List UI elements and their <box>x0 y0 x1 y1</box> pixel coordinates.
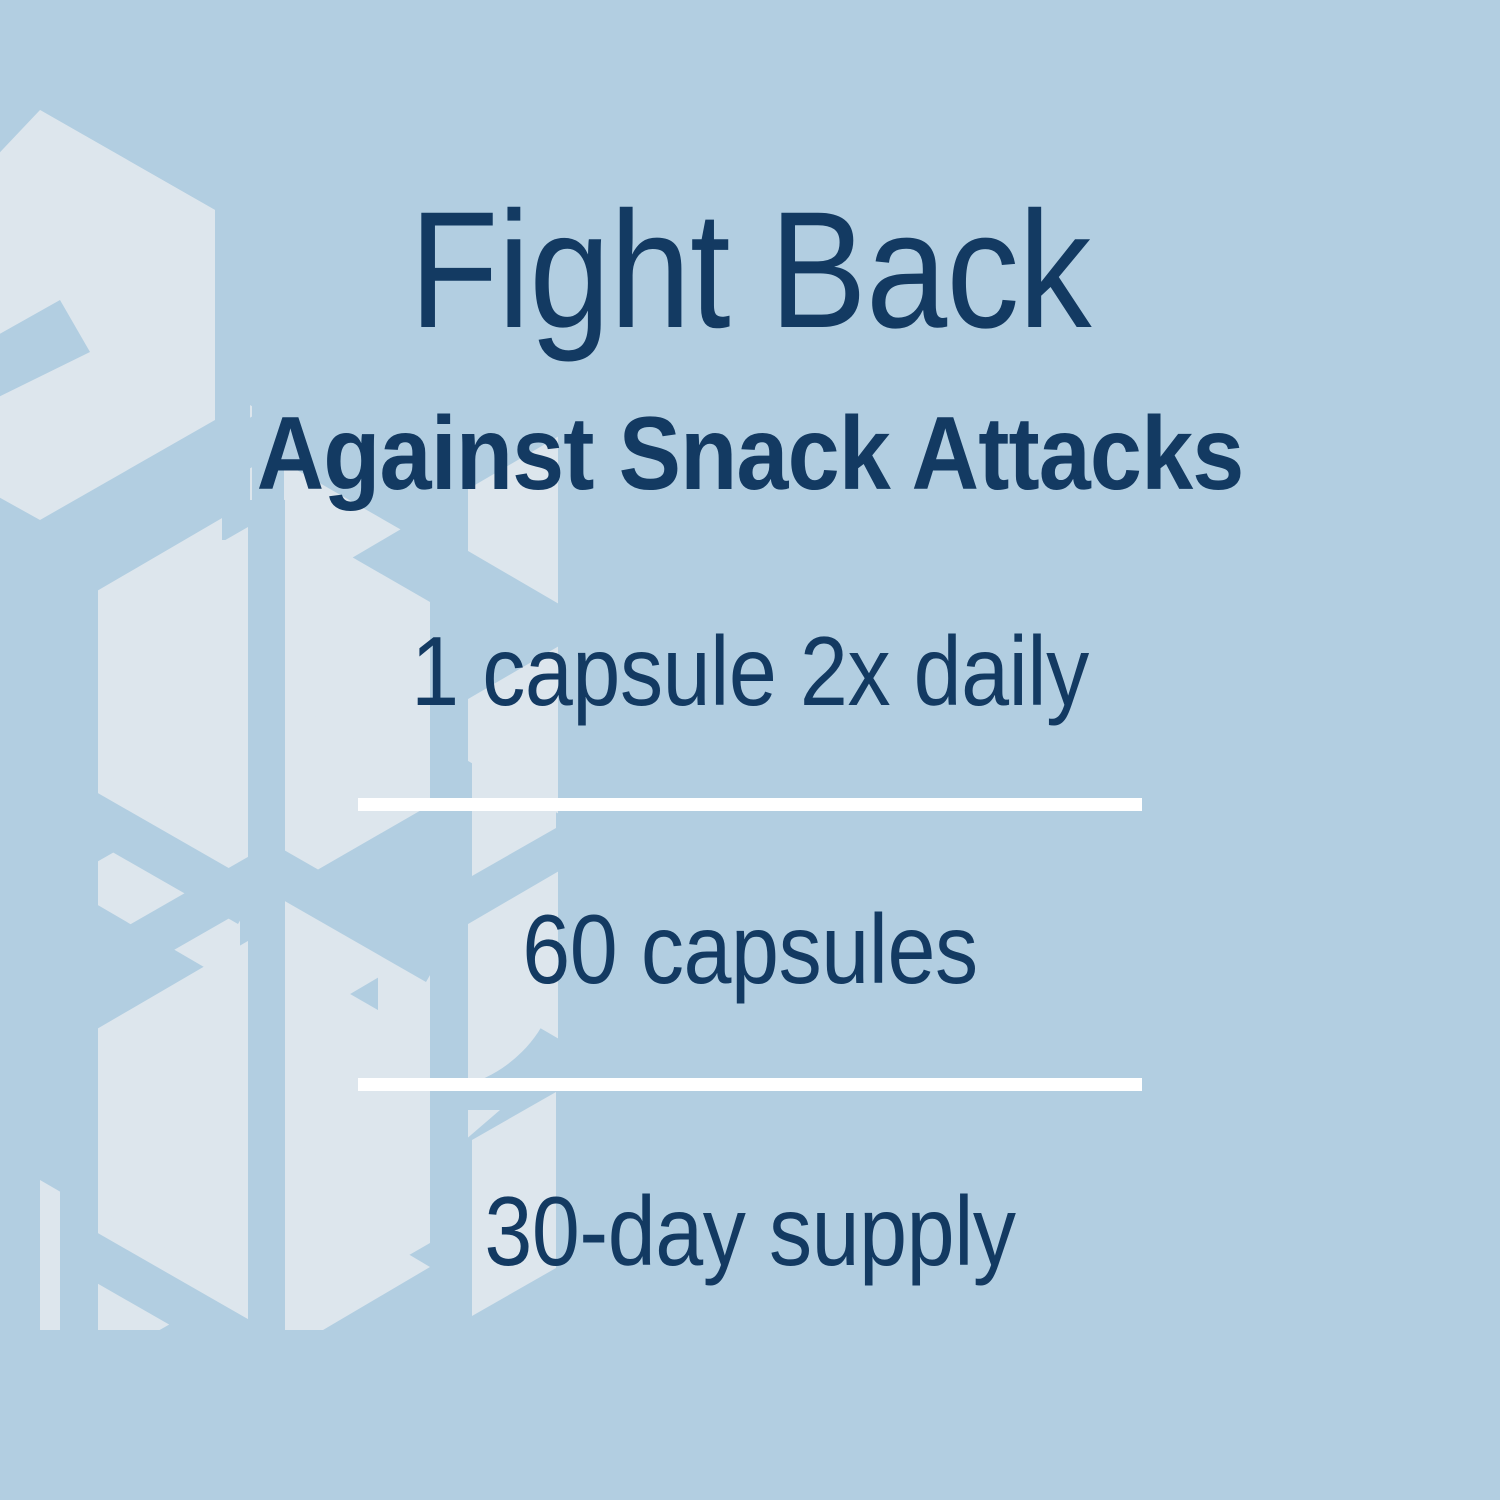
fact-dosage: 1 capsule 2x daily <box>90 622 1410 720</box>
fact-supply: 30-day supply <box>90 1182 1410 1280</box>
product-info-panel: Fight Back Against Snack Attacks 1 capsu… <box>0 0 1500 1500</box>
fact-count: 60 capsules <box>90 900 1410 998</box>
page-title: Fight Back <box>90 188 1410 354</box>
divider-bottom <box>358 1078 1142 1091</box>
divider-top <box>358 798 1142 811</box>
panel-content: Fight Back Against Snack Attacks 1 capsu… <box>0 0 1500 1500</box>
page-subtitle: Against Snack Attacks <box>75 402 1425 506</box>
